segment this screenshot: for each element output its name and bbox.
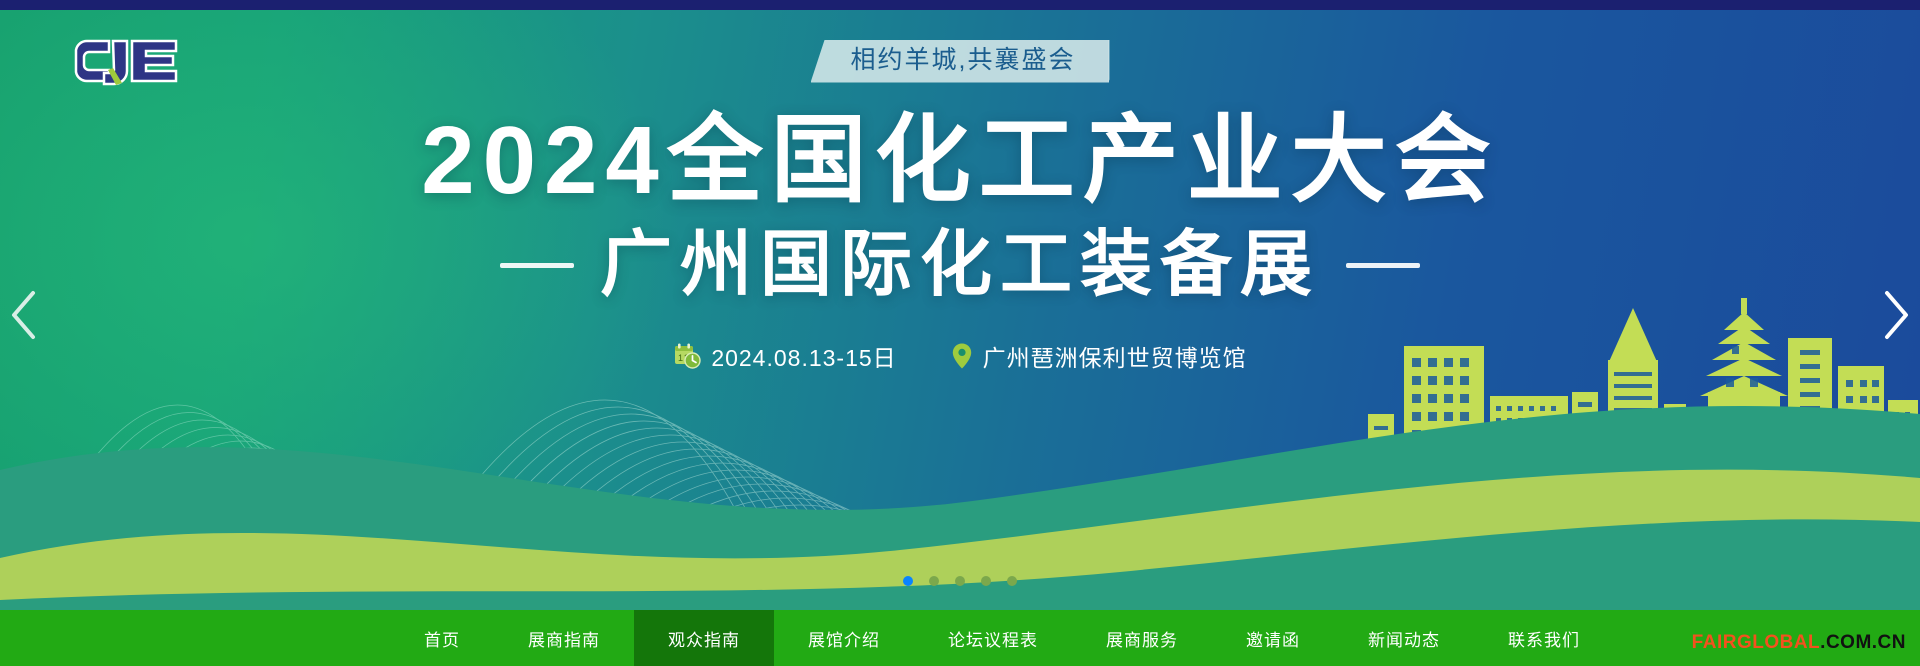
slider-dots <box>0 576 1920 586</box>
nav-item-venue-intro[interactable]: 展馆介绍 <box>774 610 914 666</box>
slider-dot-4[interactable] <box>981 576 991 586</box>
site-watermark: FAIRGLOBAL.COM.CN <box>1692 632 1906 654</box>
nav-item-invitation[interactable]: 邀请函 <box>1212 610 1334 666</box>
location-pin-icon <box>951 342 973 370</box>
nav-item-contact[interactable]: 联系我们 <box>1474 610 1614 666</box>
hill-layers-decoration <box>0 350 1920 610</box>
nav-item-forum-agenda[interactable]: 论坛议程表 <box>914 610 1072 666</box>
nav-item-news[interactable]: 新闻动态 <box>1334 610 1474 666</box>
page-title: 2024全国化工产业大会 <box>0 109 1920 213</box>
slider-dot-1[interactable] <box>903 576 913 586</box>
slider-dot-5[interactable] <box>1007 576 1017 586</box>
subtitle-rule-right <box>1346 263 1420 268</box>
hero-subtitle: 广州国际化工装备展 <box>600 226 1320 305</box>
calendar-clock-icon: 12 <box>673 342 701 370</box>
watermark-primary: FAIRGLOBAL <box>1692 632 1821 653</box>
top-navy-strip <box>0 0 1920 10</box>
cje-logo[interactable] <box>72 38 182 93</box>
nav-left-spacer <box>0 610 390 666</box>
subtitle-rule-left <box>500 263 574 268</box>
slider-dot-3[interactable] <box>955 576 965 586</box>
event-venue-text: 广州琶洲保利世贸博览馆 <box>983 339 1247 373</box>
event-date-text: 2024.08.13-15日 <box>711 339 896 373</box>
nav-item-home[interactable]: 首页 <box>390 610 494 666</box>
slider-dot-2[interactable] <box>929 576 939 586</box>
hero-subtitle-row: 广州国际化工装备展 <box>0 226 1920 305</box>
event-venue: 广州琶洲保利世贸博览馆 <box>951 339 1247 373</box>
cje-logo-mark <box>72 38 182 88</box>
nav-item-visitor-guide[interactable]: 观众指南 <box>634 610 774 666</box>
watermark-secondary: .COM.CN <box>1820 632 1906 653</box>
hero-copy: 相约羊城,共襄盛会 2024全国化工产业大会 广州国际化工装备展 12 <box>0 40 1920 373</box>
hero-banner: 相约羊城,共襄盛会 2024全国化工产业大会 广州国际化工装备展 12 <box>0 10 1920 610</box>
event-date: 12 2024.08.13-15日 <box>673 339 896 373</box>
main-navigation: 首页 展商指南 观众指南 展馆介绍 论坛议程表 展商服务 邀请函 新闻动态 联系… <box>0 610 1920 666</box>
hero-tagline: 相约羊城,共襄盛会 <box>811 40 1110 83</box>
hero-meta-row: 12 2024.08.13-15日 广州琶洲保利世贸博览馆 <box>0 339 1920 373</box>
page-root: 相约羊城,共襄盛会 2024全国化工产业大会 广州国际化工装备展 12 <box>0 0 1920 666</box>
nav-item-exhibitor-guide[interactable]: 展商指南 <box>494 610 634 666</box>
nav-item-exhibitor-services[interactable]: 展商服务 <box>1072 610 1212 666</box>
